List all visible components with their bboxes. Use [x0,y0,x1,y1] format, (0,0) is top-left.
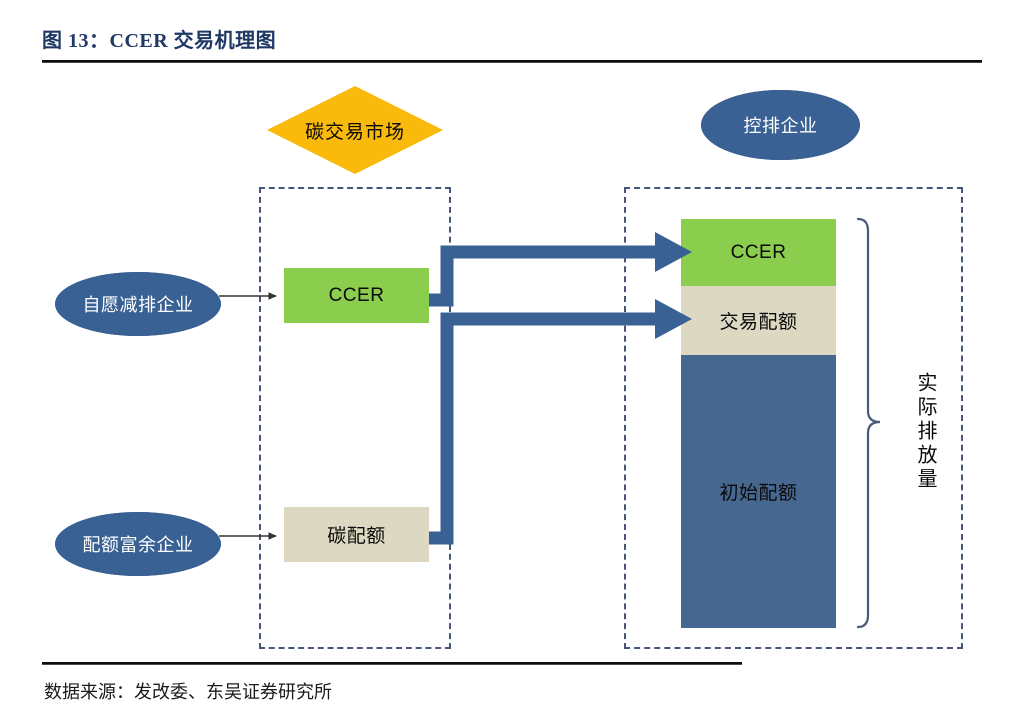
carbon-market-diamond: 碳交易市场 [265,84,445,176]
actual-emission-label: 实际排放量 [906,352,940,512]
ellipse-surplus-enterprise: 配额富余企业 [55,512,221,576]
ellipse-voluntary-enterprise: 自愿减排企业 [55,272,221,336]
stack-segment-trading-quota: 交易配额 [681,286,836,355]
stack-segment-initial-quota: 初始配额 [681,355,836,628]
box-ccer-market: CCER [284,268,429,323]
emission-bracket [850,215,890,635]
box-carbon-quota-market: 碳配额 [284,507,429,562]
ellipse-control-enterprise: 控排企业 [701,90,860,160]
diamond-shape [265,84,445,176]
source-note: 数据来源：发改委、东吴证券研究所 [44,678,332,704]
figure-page: 图 13：CCER 交易机理图 碳交易市场 控排企业 自愿减排企业 配额富余企业… [0,0,1024,724]
stack-segment-ccer: CCER [681,219,836,286]
market-zone-boundary [259,187,451,649]
page-title: 图 13：CCER 交易机理图 [42,24,276,53]
title-divider [42,60,982,63]
footer-divider [42,662,742,665]
